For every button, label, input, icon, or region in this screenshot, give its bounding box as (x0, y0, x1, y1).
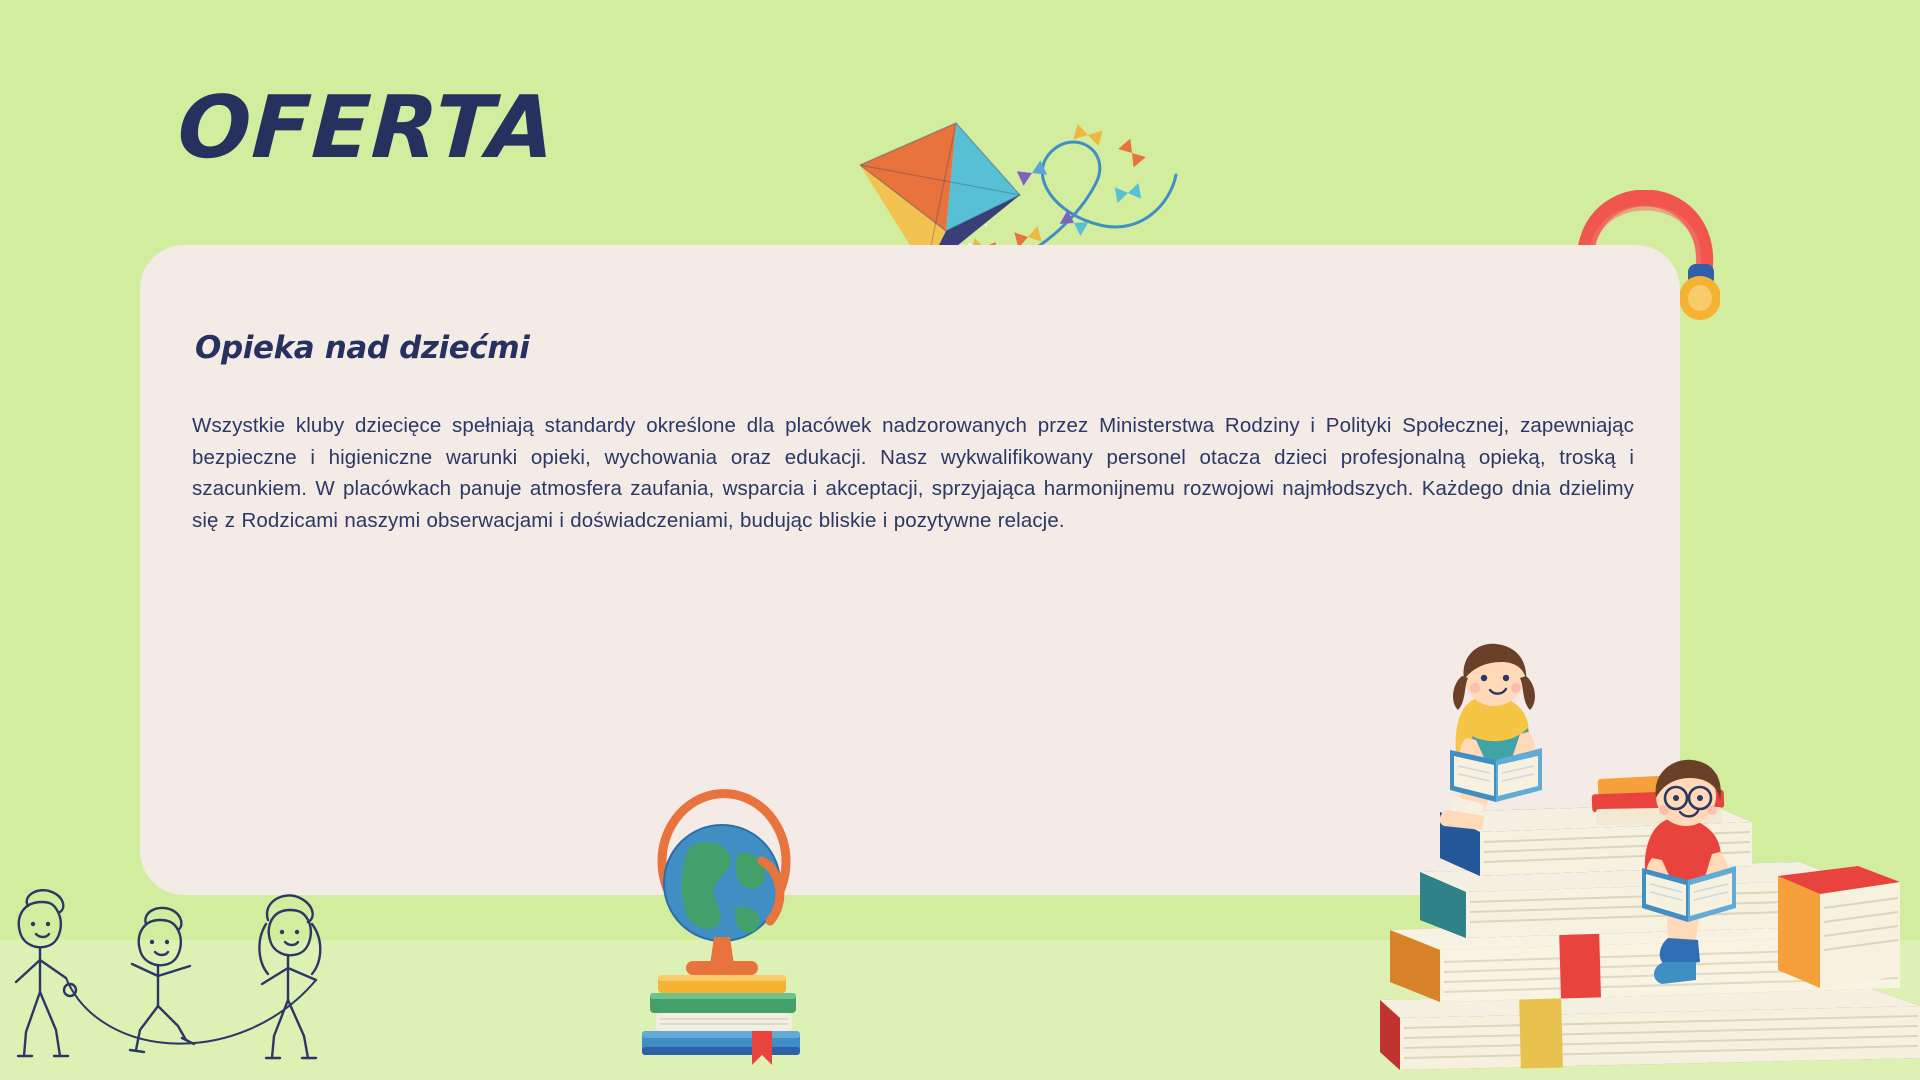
slide-canvas: OFERTA (0, 0, 1920, 1080)
page-title: OFERTA (175, 78, 558, 178)
card-heading: Opieka nad dziećmi (195, 330, 529, 366)
card-body-text: Wszystkie kluby dziecięce spełniają stan… (192, 410, 1634, 536)
content-card: Opieka nad dziećmi Wszystkie kluby dziec… (140, 245, 1680, 895)
bottom-green-band (0, 940, 1920, 1080)
